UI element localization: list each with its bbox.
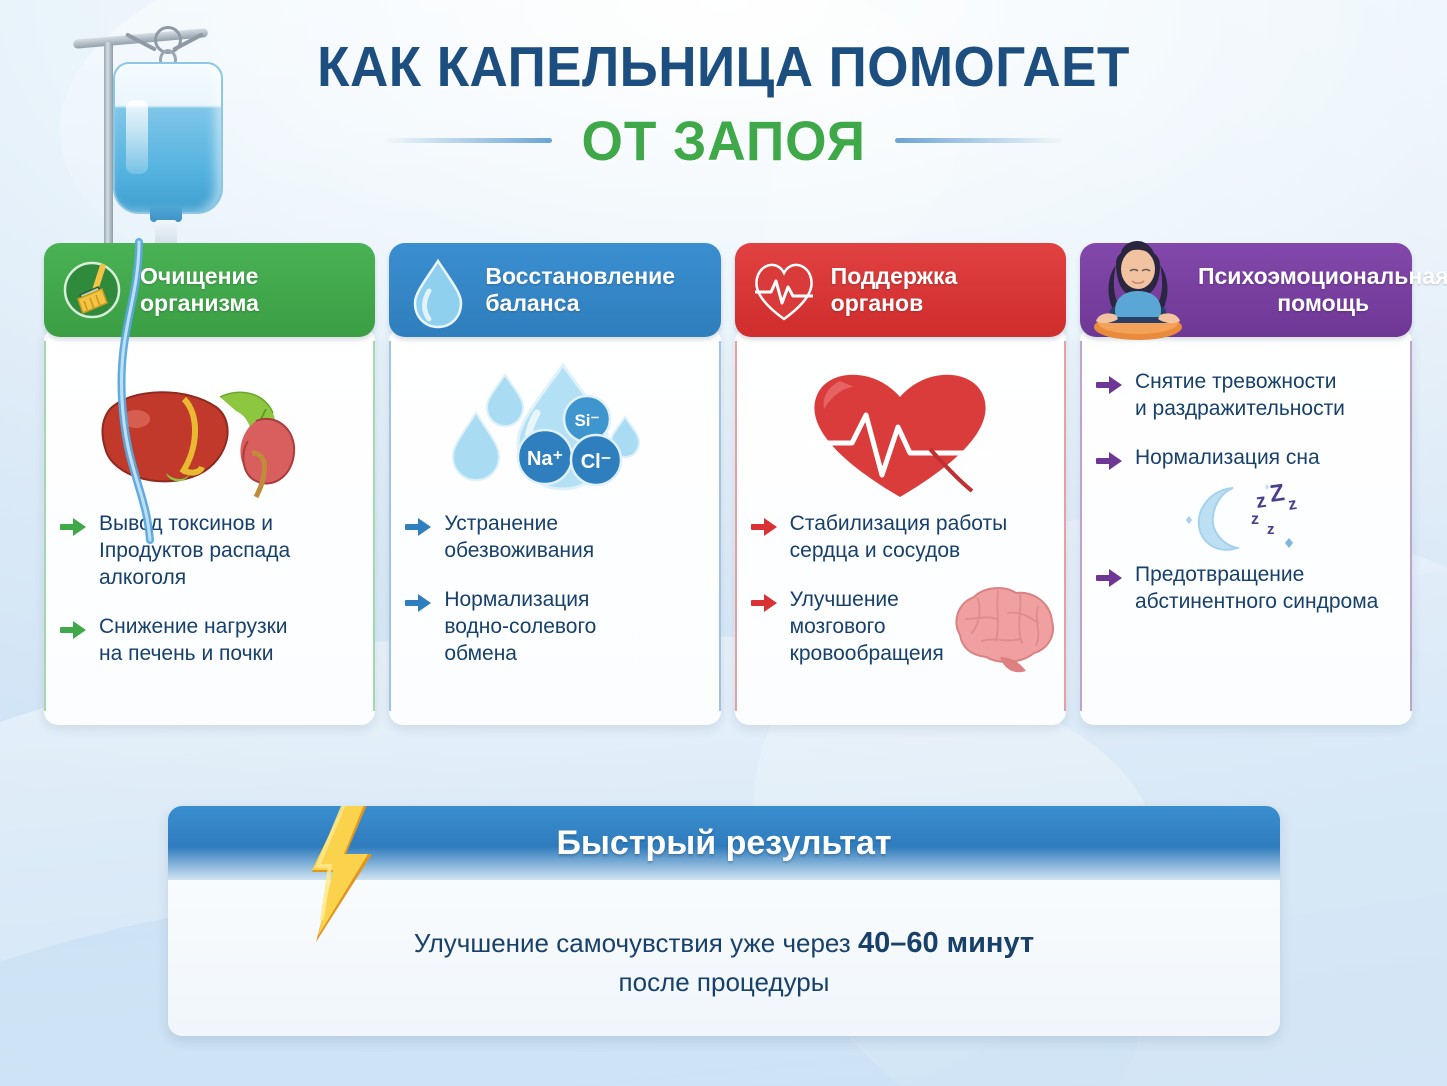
crescent-moon-zzz-icon: z Z z z z — [1171, 476, 1321, 556]
card-cleansing-title: Очищениеорганизма — [140, 263, 259, 317]
result-banner: Быстрый результат Улучшение самочувствия… — [168, 806, 1280, 1036]
list-item: Нормализацияводно-солевогообмена — [405, 587, 704, 668]
card-cleansing-body: Вывод токсинов иIпродуктов распадаалкого… — [44, 327, 375, 725]
electrolyte-label-na: Na⁺ — [527, 448, 563, 470]
card-cleansing-bullets: Вывод токсинов иIпродуктов распадаалкого… — [60, 511, 359, 667]
title-line-1: КАК КАПЕЛЬНИЦА ПОМОГАЕТ — [51, 38, 1397, 96]
water-drop-icon — [403, 251, 473, 329]
arrow-right-icon — [751, 592, 779, 614]
card-balance-body: Si⁻ Na⁺ Cl⁻ Устранениеобезвоживания Норм… — [389, 327, 720, 725]
result-banner-title: Быстрый результат — [556, 824, 891, 863]
arrow-right-icon — [1096, 450, 1124, 472]
result-banner-header: Быстрый результат — [168, 806, 1280, 880]
arrow-right-icon — [1096, 374, 1124, 396]
heart-ecg-illustration — [751, 357, 1050, 507]
card-organs-body: Стабилизация работысердца и сосудов Улуч… — [735, 327, 1066, 725]
bullet-text: Устранениеобезвоживания — [444, 511, 594, 565]
list-item: Снижение нагрузкина печень и почки — [60, 614, 359, 668]
zzz-label-1: z — [1255, 490, 1268, 513]
heart-pulse-icon — [749, 251, 819, 329]
zzz-label-4: z — [1251, 511, 1259, 528]
title-rule-right — [895, 138, 1065, 143]
bullet-text: Нормализация сна — [1135, 445, 1320, 472]
arrow-right-icon — [60, 516, 88, 538]
arrow-right-icon — [405, 516, 433, 538]
card-organs-bullets: Стабилизация работысердца и сосудов Улуч… — [751, 511, 1050, 667]
title-line-2: ОТ ЗАПОЯ — [581, 108, 865, 173]
card-cleansing-header: Очищениеорганизма — [44, 243, 375, 337]
card-cleansing[interactable]: Очищениеорганизма — [44, 243, 375, 743]
arrow-right-icon — [751, 516, 779, 538]
card-psycho-header: Психоэмоциональнаяпомощь — [1080, 243, 1412, 337]
card-balance[interactable]: Восстановлениебаланса Si⁻ Na⁺ — [389, 243, 720, 743]
arrow-right-icon — [60, 619, 88, 641]
card-balance-header: Восстановлениебаланса — [389, 243, 720, 337]
bullet-text: Улучшениемозговогокровообращеия — [790, 587, 944, 668]
infographic-canvas: КАК КАПЕЛЬНИЦА ПОМОГАЕТ ОТ ЗАПОЯ — [0, 0, 1447, 1086]
electrolyte-label-cl: Cl⁻ — [581, 451, 612, 473]
lightning-bolt-icon — [300, 806, 384, 946]
bullet-text: Предотвращениеабстинентного синдрома — [1135, 562, 1378, 616]
result-banner-line-2: после процедуры — [198, 964, 1250, 1002]
result-banner-text-before: Улучшение самочувствия уже через — [414, 928, 858, 958]
bullet-text: Стабилизация работысердца и сосудов — [790, 511, 1008, 565]
card-psycho-bullets: Снятие тревожностии раздражительности Но… — [1096, 369, 1396, 616]
card-balance-title: Восстановлениебаланса — [485, 263, 675, 317]
water-drops-electrolytes-illustration: Si⁻ Na⁺ Cl⁻ — [405, 357, 704, 507]
card-balance-bullets: Устранениеобезвоживания Нормализацияводн… — [405, 511, 704, 667]
list-item: Стабилизация работысердца и сосудов — [751, 511, 1050, 565]
list-item: Предотвращениеабстинентного синдрома — [1096, 562, 1396, 616]
card-organs[interactable]: Поддержкаорганов Стабилизация работысерд… — [735, 243, 1066, 743]
list-item: Устранениеобезвоживания — [405, 511, 704, 565]
arrow-right-icon — [1096, 567, 1124, 589]
list-item: Снятие тревожностии раздражительности — [1096, 369, 1396, 423]
benefit-cards-row: Очищениеорганизма — [44, 243, 1412, 743]
arrow-right-icon — [405, 592, 433, 614]
page-title: КАК КАПЕЛЬНИЦА ПОМОГАЕТ ОТ ЗАПОЯ — [0, 38, 1447, 173]
title-line-2-row: ОТ ЗАПОЯ — [0, 108, 1447, 173]
bullet-text: Снятие тревожностии раздражительности — [1135, 369, 1345, 423]
card-psycho[interactable]: Психоэмоциональнаяпомощь Снятие тревожно… — [1080, 243, 1412, 743]
card-organs-title: Поддержкаорганов — [831, 263, 958, 317]
result-banner-highlight: 40–60 минут — [858, 927, 1034, 959]
meditating-woman-icon — [1094, 251, 1186, 329]
card-psycho-body: Снятие тревожностии раздражительности Но… — [1080, 327, 1412, 725]
zzz-label-3: z — [1287, 494, 1298, 514]
card-organs-header: Поддержкаорганов — [735, 243, 1066, 337]
list-item: Нормализация сна — [1096, 445, 1396, 472]
list-item: Вывод токсинов иIпродуктов распадаалкого… — [60, 511, 359, 592]
electrolyte-label-si: Si⁻ — [574, 411, 599, 430]
bullet-text: Снижение нагрузкина печень и почки — [99, 614, 288, 668]
broom-icon — [58, 251, 128, 329]
title-rule-left — [382, 138, 552, 143]
zzz-label-2: Z — [1268, 479, 1286, 508]
list-item: Улучшениемозговогокровообращеия — [751, 587, 1050, 668]
card-psycho-title: Психоэмоциональнаяпомощь — [1198, 263, 1447, 317]
bullet-text: Нормализацияводно-солевогообмена — [444, 587, 596, 668]
liver-kidney-leaf-illustration — [60, 357, 359, 507]
bullet-text: Вывод токсинов иIпродуктов распадаалкого… — [99, 511, 290, 592]
zzz-label-5: z — [1267, 521, 1275, 538]
brain-illustration — [938, 579, 1066, 679]
